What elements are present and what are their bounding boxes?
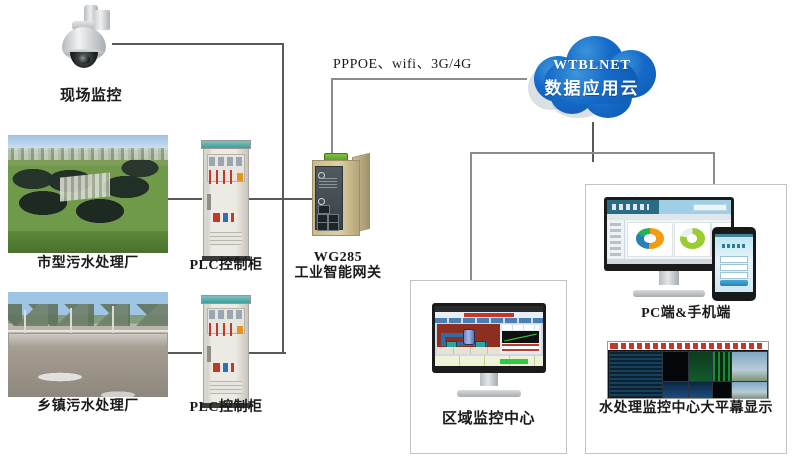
- cloud-split-bar: [470, 152, 715, 154]
- scada-trend-view: [500, 324, 541, 354]
- phone-screen: [715, 234, 753, 292]
- monitor-bezel: [432, 303, 546, 373]
- photo-town: [8, 148, 168, 160]
- monitor-neck: [480, 373, 498, 386]
- pc-mobile-videowall-panel[interactable]: PC端&手机端 水处理监控中心大平幕显示: [585, 184, 787, 454]
- city-plant-label: 市型污水处理厂: [8, 256, 168, 272]
- dashboard-header: [607, 200, 731, 214]
- rural-plant-label: 乡镇污水处理厂: [8, 399, 168, 415]
- gateway-serial-port: [318, 205, 330, 214]
- photo-aeration-water: [8, 347, 168, 397]
- phone-statusbar: [715, 234, 753, 237]
- scada-menubar: [435, 318, 543, 323]
- gateway-antenna-connector: [318, 198, 325, 205]
- phone-password-field: [720, 264, 749, 271]
- cabinet-buttons: [213, 363, 234, 372]
- phone-login-button: [720, 280, 749, 285]
- cabinet-vents: [210, 232, 241, 246]
- cabinet-indicator-row: [209, 329, 235, 336]
- scada-trend-chart: [502, 331, 540, 343]
- gateway-ethernet-port: [328, 222, 339, 231]
- monitor-foot: [633, 290, 706, 297]
- video-wall-tile: [688, 351, 714, 383]
- branch-to-regional-center: [470, 152, 472, 280]
- video-wall-banner: [608, 342, 768, 350]
- industrial-gateway-icon: [300, 152, 376, 244]
- regional-center-panel[interactable]: 区域监控中心: [410, 280, 567, 454]
- cabinet-vents: [210, 381, 241, 394]
- plc-top-label: PLC控制柜: [176, 258, 276, 274]
- scada-tank: [463, 329, 475, 345]
- desktop-monitor-icon: [432, 303, 546, 397]
- scada-bar-legend: [502, 344, 540, 352]
- gateway-model-label: WG285: [283, 250, 393, 266]
- cabinet-amber-light: [237, 173, 243, 181]
- photo-grass: [8, 231, 168, 253]
- photo-post: [112, 306, 114, 336]
- scada-process-view: [437, 324, 500, 354]
- link-plc-bottom-to-trunk: [248, 352, 286, 354]
- monitor-screen: [435, 306, 543, 366]
- photo-plant-center: [60, 172, 110, 201]
- cabinet-handle: [207, 346, 211, 362]
- scada-status-ok: [500, 359, 528, 364]
- gateway-label: 工业智能网关: [283, 266, 393, 282]
- dashboard-donut-chart: [680, 228, 705, 249]
- cabinet-meters: [209, 310, 244, 319]
- video-wall-tile: [712, 351, 733, 383]
- video-wall-tile: [609, 351, 664, 399]
- dashboard-sidebar: [607, 220, 625, 259]
- phone-captcha-field: [720, 272, 749, 279]
- link-city-plant-to-plc: [168, 198, 202, 200]
- camera-label: 现场监控: [31, 88, 151, 105]
- dashboard-card: [674, 222, 711, 257]
- gateway-ethernet-port: [317, 222, 328, 231]
- plc-bottom-label: PLC控制柜: [176, 400, 276, 416]
- cabinet-indicator-row: [209, 177, 235, 184]
- ptz-camera-icon: [56, 5, 126, 75]
- cloud-downlink: [592, 122, 594, 162]
- branch-to-pc-mobile: [713, 152, 715, 184]
- cabinet-buttons: [213, 213, 234, 222]
- rural-wastewater-plant-photo: [8, 292, 168, 397]
- uplink-horizontal-to-cloud: [331, 78, 527, 80]
- link-camera-to-trunk: [112, 43, 284, 45]
- cloud-brand: WTBLNET: [522, 58, 662, 74]
- video-wall-label: 水处理监控中心大平幕显示: [586, 401, 786, 417]
- plc-cabinet-icon: [203, 295, 249, 405]
- city-wastewater-plant-photo: [8, 135, 168, 253]
- cloud-icon[interactable]: WTBLNET 数据应用云: [522, 36, 662, 122]
- pc-mobile-label: PC端&手机端: [586, 306, 786, 322]
- video-wall-tile: [662, 381, 690, 399]
- video-wall-tile: [688, 381, 714, 399]
- link-rural-plant-to-plc: [168, 352, 202, 354]
- camera-glass: [78, 55, 90, 64]
- scada-screen: [435, 306, 543, 366]
- cabinet-top-trim: [201, 295, 251, 304]
- dashboard-card: [627, 222, 674, 257]
- monitor-neck: [659, 271, 680, 285]
- gateway-label-print: [319, 178, 337, 190]
- photo-railing: [8, 330, 168, 332]
- monitor-foot: [457, 390, 521, 397]
- dashboard-donut-chart: [636, 228, 665, 249]
- phone-username-field: [720, 256, 749, 263]
- cabinet-meters: [209, 157, 244, 166]
- plc-cabinet-icon: [203, 140, 249, 258]
- uplink-vertical: [331, 78, 333, 160]
- scada-trend-header: [502, 325, 540, 330]
- dashboard-search-box: [693, 204, 727, 211]
- cabinet-amber-light: [237, 326, 243, 334]
- video-wall-tile: [731, 381, 768, 399]
- video-wall-tile: [731, 351, 768, 383]
- dashboard-logo: [612, 204, 649, 210]
- cabinet-handle: [207, 194, 211, 210]
- photo-post: [70, 308, 72, 336]
- phone-app-title: [722, 244, 746, 248]
- video-wall-icon: [607, 341, 769, 399]
- phone-icon: [712, 227, 756, 301]
- video-wall-tile: [662, 351, 690, 383]
- uplink-label: PPPOE、wifi、3G/4G: [333, 57, 513, 73]
- dashboard-subbar: [607, 214, 731, 220]
- regional-center-label: 区域监控中心: [411, 411, 566, 428]
- video-wall-tile: [712, 381, 733, 399]
- camera-mount: [94, 10, 110, 30]
- diagram-canvas: 现场监控 市型污水处理厂 乡镇污水处理厂 PLC控制柜: [0, 0, 793, 457]
- cabinet-top-trim: [201, 140, 251, 149]
- cloud-label: 数据应用云: [522, 74, 662, 99]
- scada-data-table: [437, 347, 500, 354]
- photo-mountains: [8, 304, 168, 326]
